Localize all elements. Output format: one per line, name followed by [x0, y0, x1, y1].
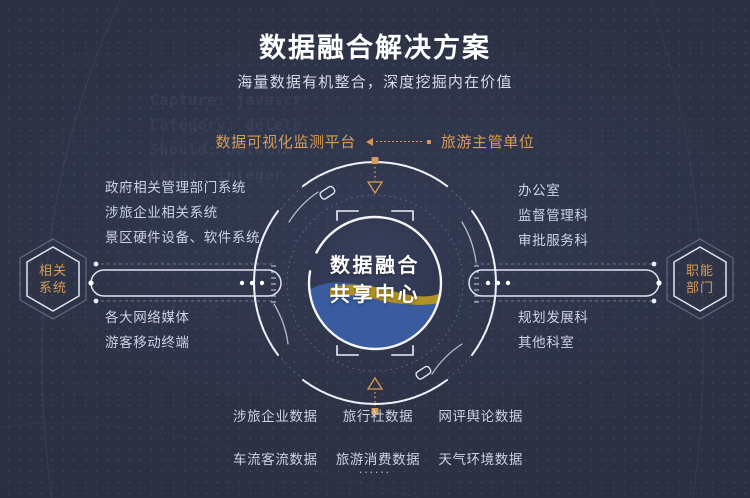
hexagon-node-functional-departments[interactable]: 职能 部门 — [663, 236, 737, 322]
cluster-right-top: 办公室 监督管理科 审批服务科 — [518, 178, 589, 253]
list-item: 涉旅企业相关系统 — [105, 200, 260, 225]
cluster-right-bottom: 规划发展科 其他科室 — [518, 305, 589, 355]
bottom-ellipsis: ...... — [0, 462, 750, 476]
list-item: 办公室 — [518, 178, 589, 203]
center-label-line1: 数据融合 — [0, 252, 750, 281]
list-item: 旅行社数据 — [331, 405, 426, 425]
center-sphere-label: 数据融合 共享中心 — [0, 252, 750, 310]
square-dot-icon — [427, 140, 431, 144]
list-item: 政府相关管理部门系统 — [105, 175, 260, 200]
hex-right-line2: 部门 — [686, 279, 714, 296]
top-label-row: 数据可视化监测平台 旅游主管单位 — [0, 131, 750, 152]
cluster-left-bottom: 各大网络媒体 游客移动终端 — [105, 305, 190, 355]
list-item: 规划发展科 — [518, 305, 589, 330]
hex-left-line2: 系统 — [39, 279, 67, 296]
top-connector — [366, 138, 431, 146]
list-item: 网评舆论数据 — [433, 405, 528, 425]
cluster-left-top: 政府相关管理部门系统 涉旅企业相关系统 景区硬件设备、软件系统 — [105, 175, 260, 250]
bottom-data-grid: 涉旅企业数据 旅行社数据 网评舆论数据 车流客流数据 旅游消费数据 天气环境数据 — [228, 405, 528, 468]
list-item: 游客移动终端 — [105, 330, 190, 355]
list-item: 景区硬件设备、软件系统 — [105, 225, 260, 250]
hex-right-line1: 职能 — [686, 262, 714, 279]
list-item: 各大网络媒体 — [105, 305, 190, 330]
dotted-line — [376, 141, 424, 142]
label-tourism-authority: 旅游主管单位 — [441, 131, 535, 152]
label-visualization-platform: 数据可视化监测平台 — [215, 131, 355, 152]
arrow-left-icon — [366, 138, 373, 146]
infographic-canvas: Capture: javascr Category: delete Should… — [0, 0, 750, 498]
page-title: 数据融合解决方案 — [0, 26, 750, 65]
hexagon-node-related-systems[interactable]: 相关 系统 — [16, 236, 90, 322]
list-item: 监督管理科 — [518, 203, 589, 228]
page-subtitle: 海量数据有机整合，深度挖掘内在价值 — [0, 71, 750, 92]
list-item: 审批服务科 — [518, 228, 589, 253]
list-item: 其他科室 — [518, 330, 589, 355]
top-vertical-connector — [368, 157, 382, 193]
list-item: 涉旅企业数据 — [228, 405, 323, 425]
hexagon-right-label: 职能 部门 — [663, 236, 737, 322]
hexagon-left-label: 相关 系统 — [16, 236, 90, 322]
hex-left-line1: 相关 — [39, 262, 67, 279]
